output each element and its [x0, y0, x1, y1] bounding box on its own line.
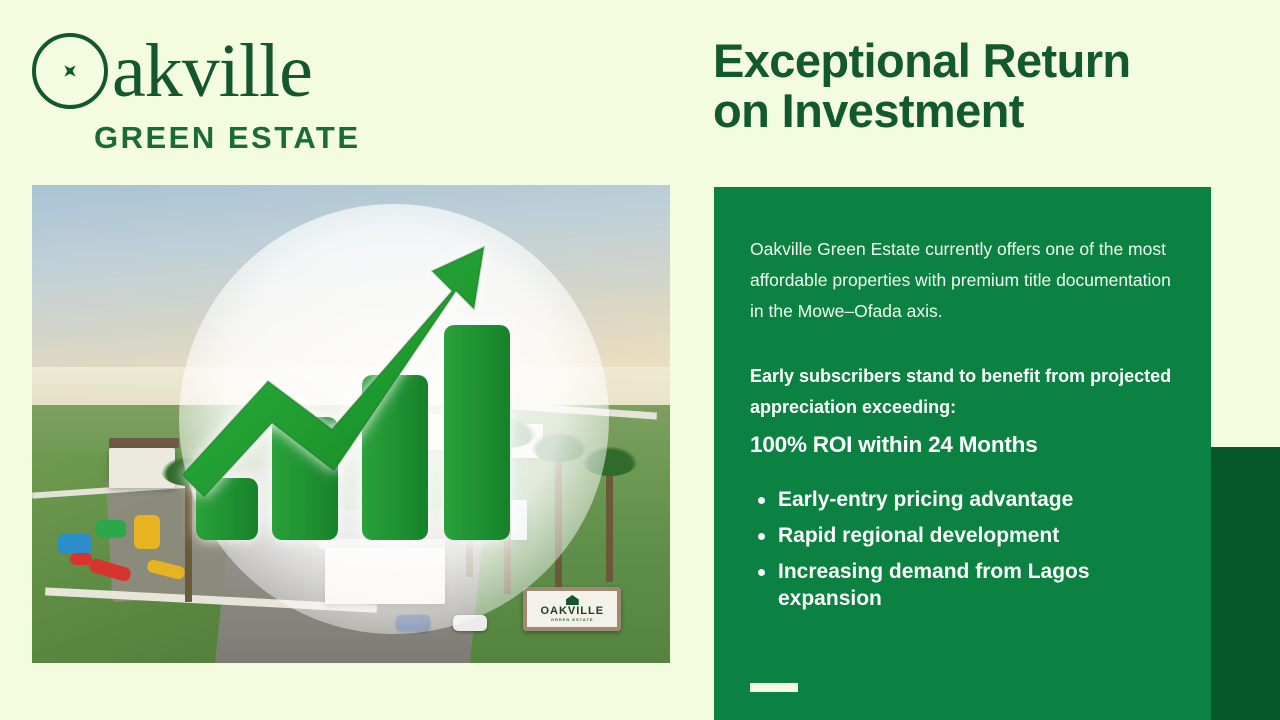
benefits-list: Early-entry pricing advantage Rapid regi…: [750, 486, 1173, 613]
info-panel: Oakville Green Estate currently offers o…: [714, 187, 1211, 720]
panel-intro-text: Oakville Green Estate currently offers o…: [750, 234, 1173, 327]
brand-name-text: akville: [110, 33, 312, 109]
headline-line-2: on Investment: [713, 86, 1233, 136]
brand-o-letter-icon: [32, 33, 108, 109]
list-item: Early-entry pricing advantage: [750, 486, 1173, 514]
roi-highlight: 100% ROI within 24 Months: [750, 432, 1173, 458]
four-point-star-icon: [59, 60, 82, 83]
headline-line-1: Exceptional Return: [713, 36, 1233, 86]
accent-block: [1208, 447, 1280, 720]
brand-logo: akville GREEN ESTATE: [32, 28, 372, 158]
brand-subtitle: GREEN ESTATE: [94, 120, 372, 156]
list-item: Rapid regional development: [750, 522, 1173, 550]
panel-lead-text: Early subscribers stand to benefit from …: [750, 361, 1173, 423]
page-title: Exceptional Return on Investment: [713, 36, 1233, 136]
brand-wordmark: akville: [32, 28, 372, 114]
estate-photo: OAKVILLE GREEN ESTATE: [32, 185, 670, 663]
panel-divider-dash: [750, 683, 798, 692]
growth-chart-graphic: [32, 185, 670, 663]
upward-trend-arrow-icon: [182, 247, 484, 497]
list-item: Increasing demand from Lagos expansion: [750, 558, 1173, 613]
